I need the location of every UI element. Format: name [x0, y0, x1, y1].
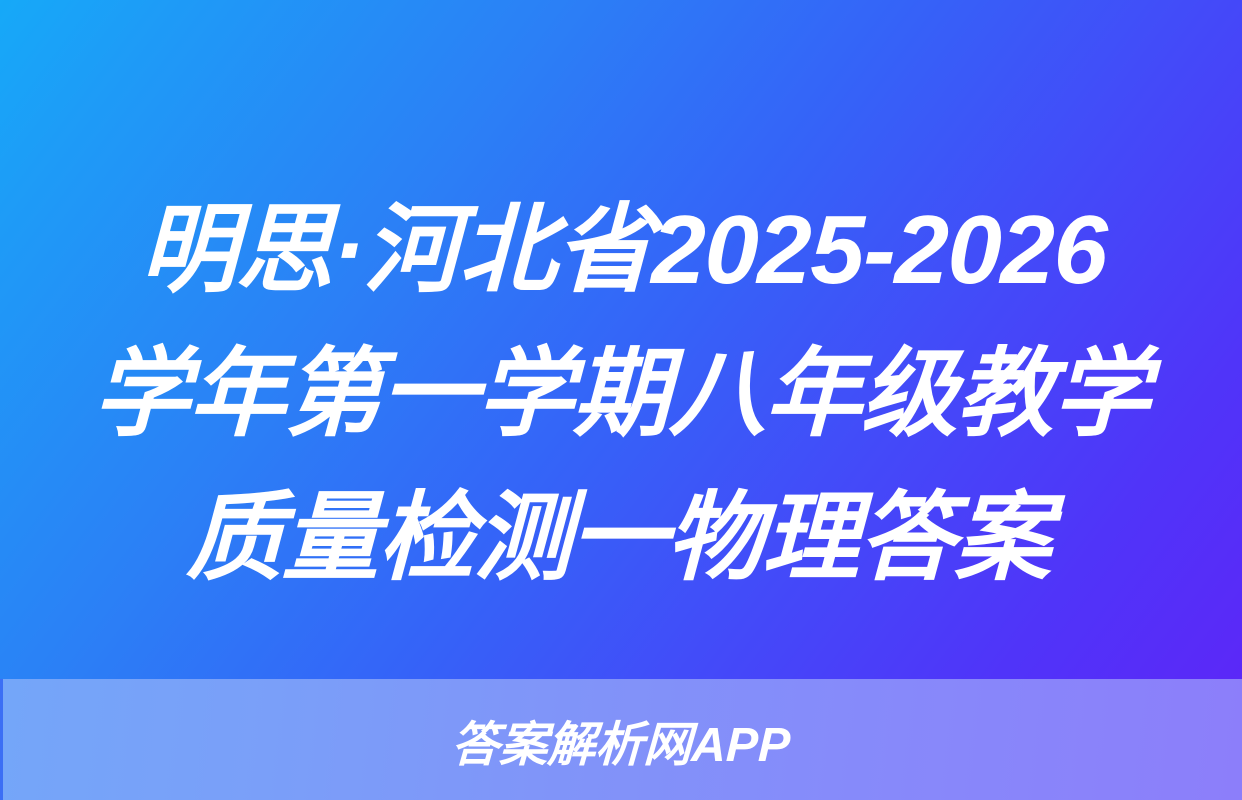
hero-gradient-banner: 明思·河北省2025-2026 学年第一学期八年级教学 质量检测一物理答案: [0, 0, 1242, 679]
footer-brand-band: 答案解析网APP: [0, 679, 1242, 800]
brand-watermark: 答案解析网APP: [0, 679, 1242, 800]
poster-canvas: 明思·河北省2025-2026 学年第一学期八年级教学 质量检测一物理答案 答案…: [0, 0, 1242, 800]
page-title: 明思·河北省2025-2026 学年第一学期八年级教学 质量检测一物理答案: [0, 178, 1242, 610]
